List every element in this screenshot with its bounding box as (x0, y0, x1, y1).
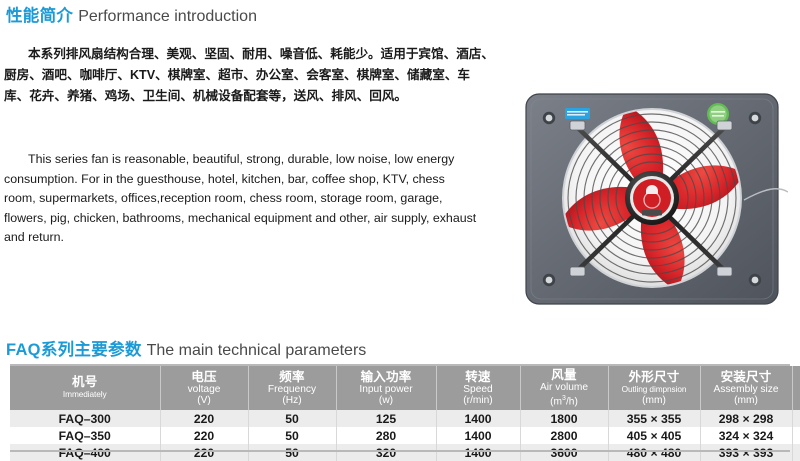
table-col-header-8: 安装尺寸Assembly size(mm) (700, 366, 792, 410)
performance-heading-en: Performance introduction (78, 8, 257, 25)
col-header-unit: Pc (794, 395, 800, 406)
table-col-header-7: 外形尺寸Outling dimpnsion(mm) (608, 366, 700, 410)
blue-label-sticker (565, 108, 590, 119)
table-cell: 125 (336, 410, 436, 427)
col-header-unit: (w) (338, 395, 435, 406)
col-header-en: Air volume (522, 382, 607, 393)
table-cell: 6 (792, 427, 800, 444)
table-cell: 405 × 405 (608, 427, 700, 444)
table-cell: 324 × 324 (700, 427, 792, 444)
col-header-en: Input power (338, 384, 435, 395)
col-header-unit: (Hz) (250, 395, 335, 406)
col-header-en: voltage (162, 384, 247, 395)
table-cell: 1400 (436, 410, 520, 427)
col-header-cn: 外形尺寸 (610, 370, 699, 384)
table-cell: 1400 (436, 427, 520, 444)
table-col-header-3: 频率Frequency(Hz) (248, 366, 336, 410)
col-header-cn: 台/件 (794, 370, 800, 384)
col-header-en: Speed (438, 384, 519, 395)
col-header-cn: 电压 (162, 370, 247, 384)
product-image-exhaust-fan (516, 88, 788, 313)
table-cell: 220 (160, 427, 248, 444)
performance-heading-cn: 性能简介 (6, 7, 73, 25)
table-cell: 50 (248, 410, 336, 427)
product-spec-page: 性能简介Performance introduction 本系列排风扇结构合理、… (0, 0, 800, 459)
table-row: FAQ–3502205028014002800405 × 405324 × 32… (10, 427, 800, 444)
col-header-cn: 转速 (438, 370, 519, 384)
col-header-unit: (mm) (610, 395, 699, 406)
col-header-unit: (r/min) (438, 395, 519, 406)
table-row: FAQ–3002205012514001800355 × 355298 × 29… (10, 410, 800, 427)
table-bottom-rule (10, 450, 790, 452)
col-header-en: Outling dimpnsion (610, 384, 699, 395)
table-cell: 280 (336, 427, 436, 444)
col-header-en: Assembly size (702, 384, 791, 395)
table-cell: 1800 (520, 410, 608, 427)
table-col-header-6: 风量Air volume(m3/h) (520, 366, 608, 410)
technical-parameters-table: 机号Immediately电压voltage(V)频率Frequency(Hz)… (10, 366, 800, 461)
table-cell: 6 (792, 410, 800, 427)
col-header-cn: 机号 (11, 375, 159, 389)
performance-paragraph-en: This series fan is reasonable, beautiful… (4, 150, 479, 248)
table-cell: 220 (160, 410, 248, 427)
col-header-unit: (V) (162, 395, 247, 406)
col-header-unit: (mm) (702, 395, 791, 406)
col-header-en: Set (794, 384, 800, 395)
col-header-unit: (m3/h) (522, 393, 607, 407)
exhaust-fan-illustration (516, 88, 788, 313)
col-header-cn: 频率 (250, 370, 335, 384)
model-cell: FAQ–300 (10, 410, 160, 427)
faq-heading-en: The main technical parameters (147, 342, 367, 359)
faq-heading-cn: FAQ系列主要参数 (6, 341, 142, 359)
fan-center-hub (625, 171, 679, 225)
col-header-cn: 风量 (522, 368, 607, 382)
table-header-row: 机号Immediately电压voltage(V)频率Frequency(Hz)… (10, 366, 800, 410)
col-header-cn: 安装尺寸 (702, 370, 791, 384)
table-cell: 2800 (520, 427, 608, 444)
col-header-en: Immediately (11, 389, 159, 400)
table-col-header-5: 转速Speed(r/min) (436, 366, 520, 410)
faq-section-heading: FAQ系列主要参数The main technical parameters (6, 340, 366, 361)
model-cell: FAQ–350 (10, 427, 160, 444)
table-col-header-9: 台/件SetPc (792, 366, 800, 410)
performance-paragraph-cn: 本系列排风扇结构合理、美观、坚固、耐用、噪音低、耗能少。适用于宾馆、酒店、厨房、… (4, 44, 494, 107)
table-col-header-4: 输入功率Input power(w) (336, 366, 436, 410)
performance-section-heading: 性能简介Performance introduction (6, 6, 257, 27)
col-header-cn: 输入功率 (338, 370, 435, 384)
table-cell: 50 (248, 427, 336, 444)
table-col-header-2: 电压voltage(V) (160, 366, 248, 410)
col-header-en: Frequency (250, 384, 335, 395)
table-body: FAQ–3002205012514001800355 × 355298 × 29… (10, 410, 800, 461)
spec-table-container: 机号Immediately电压voltage(V)频率Frequency(Hz)… (10, 366, 790, 461)
table-cell: 355 × 355 (608, 410, 700, 427)
table-cell: 298 × 298 (700, 410, 792, 427)
table-col-header-1: 机号Immediately (10, 366, 160, 410)
